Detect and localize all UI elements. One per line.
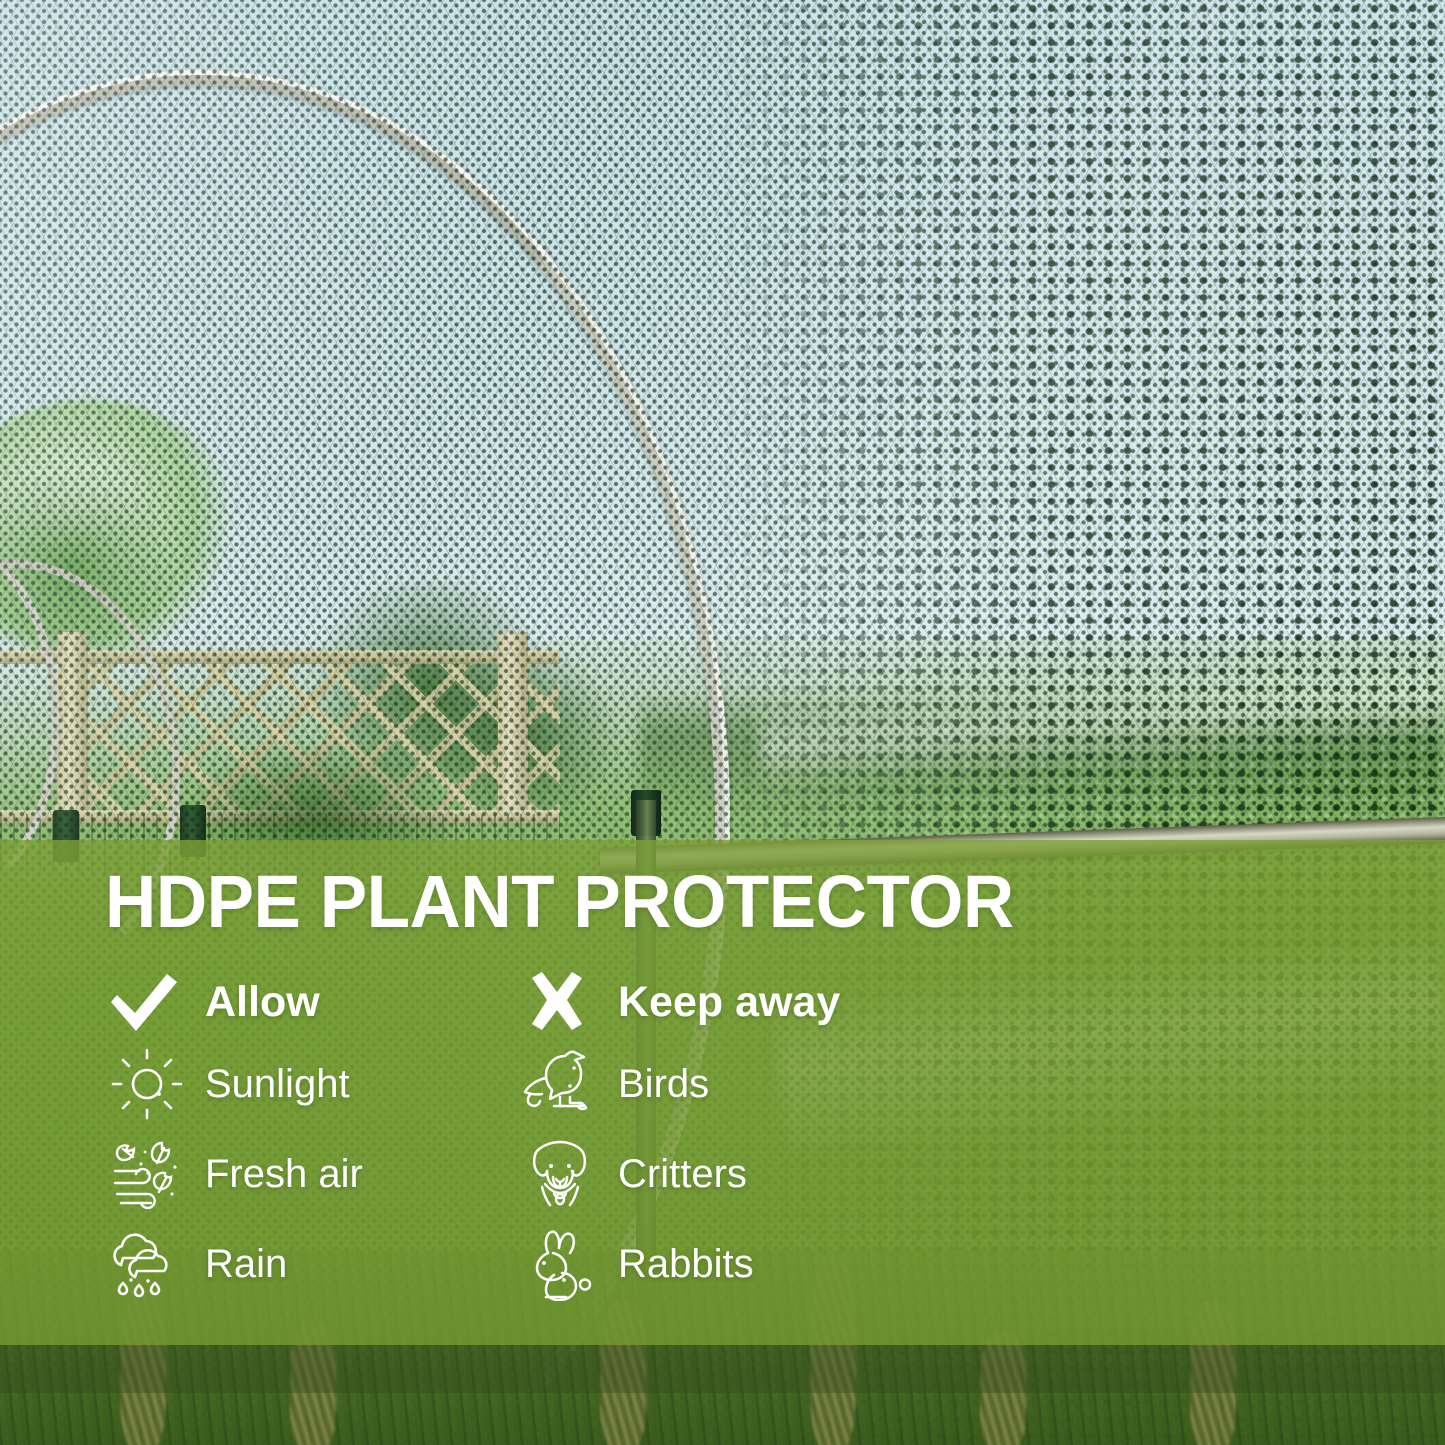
dog-icon — [518, 1137, 610, 1211]
column-header-keep-away: Keep away — [518, 965, 938, 1039]
product-image: HDPE PLANT PROTECTOR Allow — [0, 0, 1445, 1445]
check-icon — [105, 970, 197, 1034]
feature-row: Sunlight — [105, 1039, 525, 1129]
feature-row: Fresh air — [105, 1129, 525, 1219]
column-header-label: Keep away — [618, 981, 840, 1024]
feature-label: Rain — [205, 1244, 287, 1284]
feature-label: Fresh air — [205, 1154, 363, 1194]
feature-label: Sunlight — [205, 1064, 350, 1104]
feature-row: Rabbits — [518, 1219, 938, 1309]
bird-icon — [518, 1047, 610, 1121]
page-title: HDPE PLANT PROTECTOR — [105, 865, 1014, 939]
rabbit-icon — [518, 1227, 610, 1301]
cross-icon — [518, 970, 610, 1034]
feature-row: Rain — [105, 1219, 525, 1309]
feature-row: Critters — [518, 1129, 938, 1219]
column-header-allow: Allow — [105, 965, 525, 1039]
sun-icon — [105, 1047, 197, 1121]
feature-label: Critters — [618, 1154, 747, 1194]
feature-label: Rabbits — [618, 1244, 754, 1284]
wind-leaves-icon — [105, 1137, 197, 1211]
column-header-label: Allow — [205, 981, 320, 1024]
column-allow: Allow Sunlight — [105, 965, 525, 1309]
column-keep-away: Keep away — [518, 965, 938, 1309]
feature-label: Birds — [618, 1064, 709, 1104]
rain-cloud-icon — [105, 1227, 197, 1301]
banner-content: HDPE PLANT PROTECTOR Allow — [0, 840, 1445, 1360]
feature-row: Birds — [518, 1039, 938, 1129]
